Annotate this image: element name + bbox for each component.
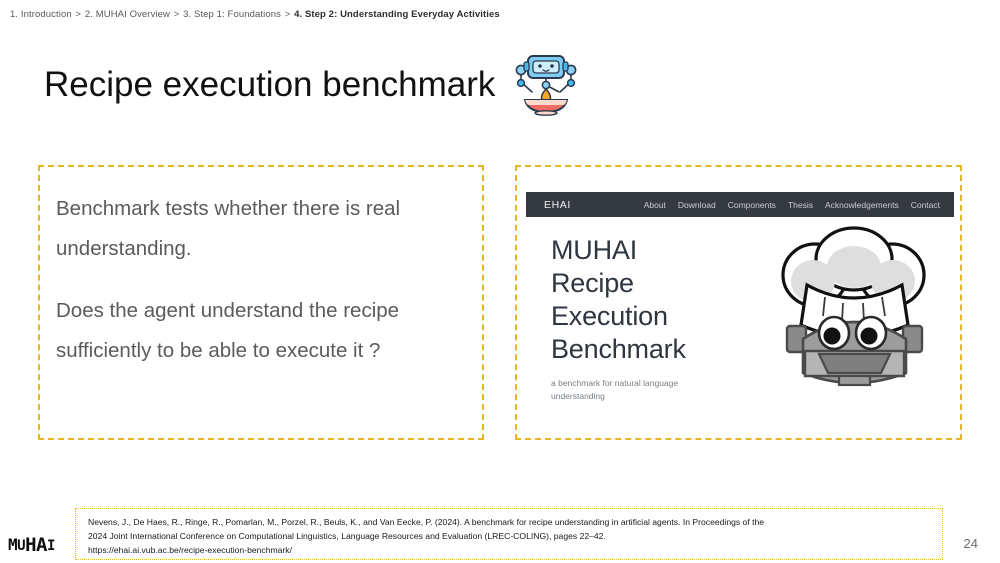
left-statement-box: Benchmark tests whether there is real un…	[38, 165, 484, 440]
website-nav-links: About Download Components Thesis Acknowl…	[644, 200, 940, 210]
website-subtitle: a benchmark for natural language underst…	[551, 377, 721, 403]
citation-box: Nevens, J., De Haes, R., Ringe, R., Poma…	[75, 508, 943, 560]
slide-root: 1. Introduction > 2. MUHAI Overview > 3.…	[0, 0, 1000, 563]
citation-line-1: Nevens, J., De Haes, R., Ringe, R., Poma…	[88, 516, 932, 530]
breadcrumb-item-4[interactable]: 4. Step 2: Understanding Everyday Activi…	[294, 9, 500, 20]
breadcrumb-item-2[interactable]: 2. MUHAI Overview	[85, 9, 170, 20]
statement-paragraph-2: Does the agent understand the recipe suf…	[56, 291, 462, 371]
nav-link-contact[interactable]: Contact	[911, 200, 940, 210]
website-brand[interactable]: EHAI	[544, 199, 571, 211]
nav-link-about[interactable]: About	[644, 200, 666, 210]
citation-url[interactable]: https://ehai.ai.vub.ac.be/recipe-executi…	[88, 544, 932, 558]
website-navbar: EHAI About Download Components Thesis Ac…	[526, 192, 954, 217]
muhai-logo: MUHAI	[8, 536, 55, 555]
breadcrumb-separator: >	[173, 9, 181, 20]
breadcrumb: 1. Introduction > 2. MUHAI Overview > 3.…	[10, 9, 500, 20]
page-title: Recipe execution benchmark	[44, 66, 495, 105]
breadcrumb-item-3[interactable]: 3. Step 1: Foundations	[183, 9, 281, 20]
page-number: 24	[964, 536, 978, 551]
website-screenshot: EHAI About Download Components Thesis Ac…	[526, 192, 954, 407]
nav-link-components[interactable]: Components	[728, 200, 776, 210]
breadcrumb-item-1[interactable]: 1. Introduction	[10, 9, 72, 20]
nav-link-acknowledgements[interactable]: Acknowledgements	[825, 200, 899, 210]
robot-cooking-icon	[509, 52, 583, 118]
title-row: Recipe execution benchmark	[44, 52, 583, 118]
chef-robot-icon	[767, 223, 942, 388]
breadcrumb-separator: >	[74, 9, 82, 20]
right-screenshot-box: EHAI About Download Components Thesis Ac…	[515, 165, 962, 440]
nav-link-thesis[interactable]: Thesis	[788, 200, 813, 210]
paragraph-spacer	[56, 269, 462, 291]
website-hero: MUHAI Recipe Execution Benchmark a bench…	[526, 217, 954, 407]
left-statement-text: Benchmark tests whether there is real un…	[40, 167, 482, 371]
nav-link-download[interactable]: Download	[678, 200, 716, 210]
citation-line-2: 2024 Joint International Conference on C…	[88, 530, 932, 544]
breadcrumb-separator: >	[284, 9, 292, 20]
statement-paragraph-1: Benchmark tests whether there is real un…	[56, 189, 462, 269]
